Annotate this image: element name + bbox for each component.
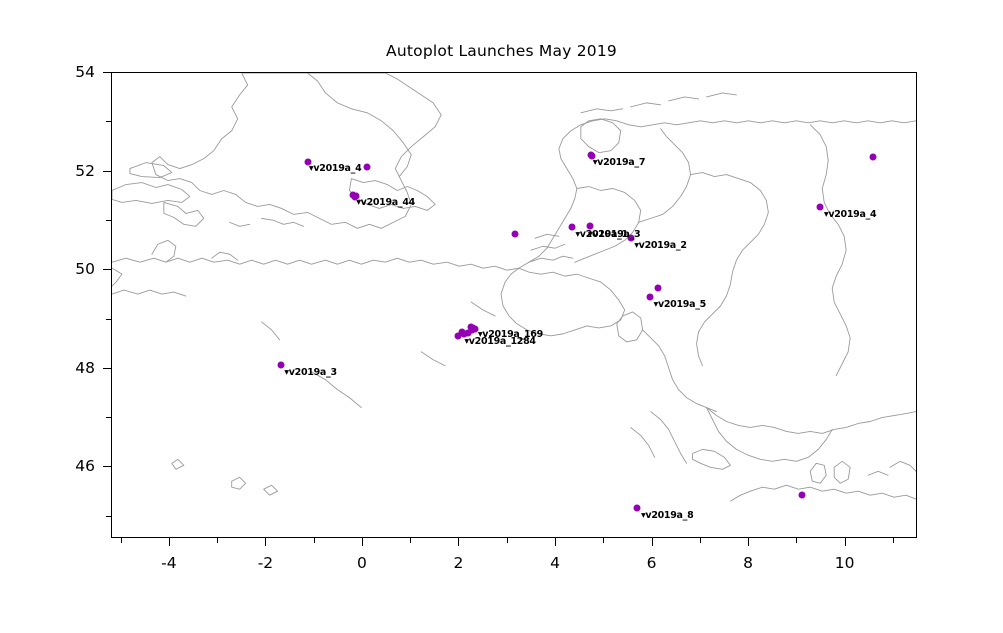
y-tick-major — [103, 466, 111, 467]
y-tick-minor — [106, 319, 111, 320]
y-tick-label: 54 — [49, 63, 95, 81]
y-tick-label: 52 — [49, 162, 95, 180]
x-tick-major — [169, 538, 170, 546]
x-tick-major — [555, 538, 556, 546]
data-point — [511, 230, 518, 237]
x-tick-major — [458, 538, 459, 546]
data-point-label: ▾v2019a_7 — [593, 157, 645, 168]
x-tick-label: -4 — [146, 554, 192, 572]
page-title: Autoplot Launches May 2019 — [0, 42, 1003, 60]
y-tick-minor — [106, 121, 111, 122]
x-tick-label: 0 — [339, 554, 385, 572]
data-point — [634, 505, 641, 512]
x-tick-major — [362, 538, 363, 546]
x-tick-minor — [121, 538, 122, 543]
data-point — [869, 154, 876, 161]
data-point-label: ▾v2019a_44 — [356, 197, 415, 208]
x-tick-minor — [410, 538, 411, 543]
data-point-label: ▾v2019a_1284 — [464, 336, 535, 347]
x-tick-label: 4 — [532, 554, 578, 572]
data-point — [454, 333, 461, 340]
x-tick-minor — [314, 538, 315, 543]
data-point-label: ▾v2019a_4 — [309, 163, 361, 174]
y-tick-minor — [106, 220, 111, 221]
y-tick-major — [103, 72, 111, 73]
data-point-label: ▾v2019a_5 — [654, 299, 706, 310]
x-tick-minor — [700, 538, 701, 543]
x-tick-minor — [893, 538, 894, 543]
y-tick-label: 46 — [49, 457, 95, 475]
x-tick-label: 6 — [629, 554, 675, 572]
y-tick-major — [103, 368, 111, 369]
y-tick-major — [103, 171, 111, 172]
data-point — [654, 285, 661, 292]
data-point-label: ▾v2019a_3 — [588, 229, 640, 240]
y-tick-minor — [106, 516, 111, 517]
x-tick-minor — [796, 538, 797, 543]
x-tick-major — [652, 538, 653, 546]
data-point — [799, 492, 806, 499]
data-point — [363, 164, 370, 171]
x-tick-label: -2 — [242, 554, 288, 572]
x-tick-label: 8 — [725, 554, 771, 572]
y-tick-label: 48 — [49, 359, 95, 377]
y-tick-major — [103, 269, 111, 270]
chart-figure: Autoplot Launches May 2019 — [0, 0, 1003, 633]
y-tick-minor — [106, 417, 111, 418]
x-tick-label: 10 — [822, 554, 868, 572]
x-tick-major — [845, 538, 846, 546]
data-point-label: ▾v2019a_3 — [284, 367, 336, 378]
x-tick-minor — [603, 538, 604, 543]
x-tick-major — [265, 538, 266, 546]
data-point-label: ▾v2019a_8 — [641, 510, 693, 521]
y-tick-label: 50 — [49, 260, 95, 278]
map-plot-area — [111, 72, 917, 538]
x-tick-label: 2 — [435, 554, 481, 572]
coastline-map — [112, 73, 916, 537]
data-point-label: ▾v2019a_2 — [634, 240, 686, 251]
x-tick-minor — [217, 538, 218, 543]
x-tick-major — [748, 538, 749, 546]
x-tick-minor — [507, 538, 508, 543]
data-point-label: ▾v2019a_4 — [824, 209, 876, 220]
